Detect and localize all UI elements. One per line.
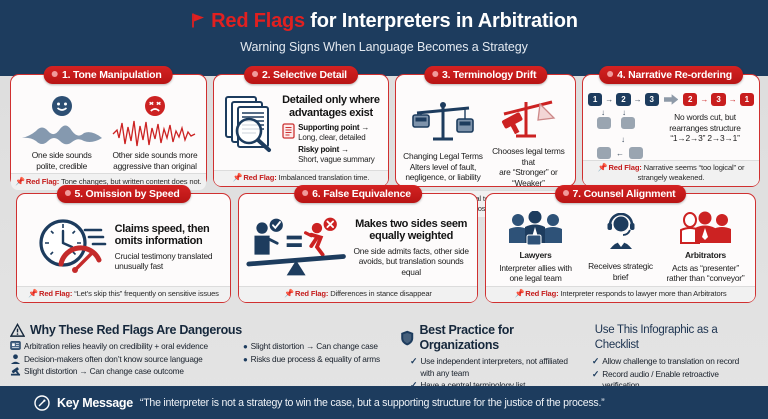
card-7-pill: 7. Counsel Alignment	[555, 185, 687, 203]
red-document-icon	[282, 123, 295, 139]
card-7-group-lawyers: Lawyers Interpreter allies withone legal…	[492, 211, 579, 284]
arrow-icon: →	[634, 95, 642, 104]
page-header: Red Flags for Interpreters in Arbitratio…	[0, 0, 768, 76]
gray-box	[621, 117, 635, 129]
card-2-body: Detailed only whereadvantages exist Supp…	[214, 89, 389, 170]
key-message-text: “The interpreter is not a strategy to wi…	[140, 397, 605, 409]
card-3-left-caption: Changing Legal TermsAlters level of faul…	[403, 151, 483, 183]
businessman-check-icon	[254, 219, 282, 255]
arrow-icon: →	[605, 95, 613, 104]
spiky-waveform-icon	[111, 120, 199, 148]
pill-dot-icon	[64, 190, 70, 196]
seq-navy-3: 3	[645, 93, 659, 106]
practice-panel-subtitle: Use This Infographic as a Checklist	[595, 323, 758, 353]
practice-item: ✓Allow challenge to translation on recor…	[592, 356, 758, 368]
card-7-group-arbitrators: Arbitrators Acts as “presenter”rather th…	[662, 211, 749, 284]
danger-item: Slight distortion → Can change case outc…	[10, 366, 235, 378]
left-arrow-icon: ←	[616, 149, 624, 158]
shield-icon	[400, 330, 414, 346]
gray-box	[629, 147, 643, 159]
card-1-pill: 1. Tone Manipulation	[44, 66, 173, 84]
key-message-label: Key Message	[57, 396, 133, 410]
card-omission-by-speed[interactable]: 5. Omission by Speed Claims spe	[16, 193, 231, 303]
pushpin-icon: 📌	[598, 163, 608, 172]
danger-panel-columns: Arbitration relies heavily on credibilit…	[10, 341, 380, 378]
seq-red-2: 3	[711, 93, 725, 106]
arrow-icon: →	[700, 95, 708, 104]
pushpin-icon: 📌	[15, 177, 25, 186]
angry-face-icon	[143, 94, 167, 118]
card-3-right: Chooses legal terms thatare “Stronger” o…	[488, 94, 569, 188]
practice-item: ✓Use independent interpreters, not affil…	[410, 356, 578, 379]
card-5-pill: 5. Omission by Speed	[56, 185, 190, 203]
interpreter-headset-icon	[601, 213, 641, 249]
page-title: Red Flags for Interpreters in Arbitratio…	[0, 9, 768, 35]
card-false-equivalence[interactable]: 6. False Equivalence	[238, 193, 478, 303]
card-5-heading: Claims speed, thenomits information	[115, 223, 213, 248]
pushpin-icon: 📌	[233, 173, 243, 182]
card-7-group-interpreter: Receives strategicbrief	[579, 211, 662, 282]
check-icon: ✓	[592, 356, 599, 368]
card-tone-manipulation[interactable]: 1. Tone Manipulation One side soundspoli…	[10, 74, 207, 187]
pill-dot-icon	[607, 71, 613, 77]
down-arrow-icon: ↓	[601, 108, 605, 117]
seq-navy-2: 2	[616, 93, 630, 106]
card-2-flagbar: 📌Red Flag: Imbalanced translation time.	[214, 170, 389, 187]
danger-panel: Why These Red Flags Are Dangerous Arbitr…	[0, 319, 390, 387]
gray-box	[597, 117, 611, 129]
pill-dot-icon	[432, 71, 438, 77]
bottom-panels: Why These Red Flags Are Dangerous Arbitr…	[0, 319, 768, 387]
card-7-interpreter-desc: Receives strategicbrief	[588, 261, 653, 282]
card-6-sub: One side admits facts, other sideavoids,…	[351, 246, 471, 278]
red-flag-icon	[190, 11, 207, 35]
gavel-small-icon	[10, 366, 21, 376]
card-7-flagbar: 📌Red Flag: Interpreter responds to lawye…	[486, 286, 755, 303]
card-4-text: No words cut, but rearranges structure “…	[656, 108, 754, 159]
pushpin-icon: 📌	[28, 289, 38, 298]
title-rest: for Interpreters in Arbitration	[305, 10, 578, 32]
key-circle-icon	[34, 395, 50, 411]
down-arrow-icon: ↓	[622, 108, 626, 117]
card-row-2: 5. Omission by Speed Claims spe	[16, 193, 756, 303]
smiley-face-icon	[50, 94, 74, 118]
lawyers-group-icon	[505, 211, 567, 247]
card-1-left: One side soundspolite, credible	[17, 94, 106, 171]
card-7-arbitrators-desc: Acts as “presenter”rather than “conveyor…	[666, 263, 744, 284]
check-icon: ✓	[410, 356, 417, 379]
practice-panel-title: Best Practice for Organizations Use This…	[400, 323, 758, 353]
seesaw-icon	[245, 215, 347, 279]
card-7-arbitrators-title: Arbitrators	[685, 250, 726, 261]
card-7-body: Lawyers Interpreter allies withone legal…	[486, 208, 755, 286]
pushpin-icon: 📌	[284, 289, 294, 298]
id-card-icon	[10, 341, 21, 350]
pushpin-icon: 📌	[514, 289, 524, 298]
card-5-body: Claims speed, thenomits information Cruc…	[17, 208, 230, 286]
card-counsel-alignment[interactable]: 7. Counsel Alignment Lawyers Interpreter…	[485, 193, 756, 303]
card-1-body: One side soundspolite, credible Other si…	[11, 89, 206, 173]
card-4-body: 1 → 2 → 3 2 → 3 → 1 ↓ ↓	[583, 89, 759, 160]
pill-dot-icon	[252, 71, 258, 77]
gavel-scales-icon	[494, 94, 562, 144]
card-2-pill: 2. Selective Detail	[244, 66, 358, 84]
danger-item: ●Risks due process & equality of arms	[243, 354, 380, 366]
title-red: Red Flags	[211, 10, 305, 32]
card-terminology-drift[interactable]: 3. Terminology Drift Changing Legal	[395, 74, 576, 187]
down-arrow-icon: ↓	[621, 135, 625, 144]
card-3-left: Changing Legal TermsAlters level of faul…	[402, 99, 483, 183]
card-6-heading: Makes two sides seemequally weighted	[351, 218, 471, 243]
danger-item: Decision-makers often don’t know source …	[10, 354, 235, 366]
card-4-pill: 4. Narrative Re-ordering	[599, 66, 743, 84]
person-icon	[10, 354, 21, 364]
danger-item: ●Slight distortion → Can change case	[243, 341, 380, 353]
card-2-point2-label: Risky point →	[298, 145, 374, 155]
seq-navy-1: 1	[588, 93, 602, 106]
card-3-pill: 3. Terminology Drift	[424, 66, 547, 84]
equals-sign-icon	[287, 236, 302, 247]
card-2-point1-label: Supporting point →	[298, 123, 374, 133]
card-3-body: Changing Legal TermsAlters level of faul…	[396, 89, 575, 190]
page-subtitle: Warning Signs When Language Becomes a St…	[0, 40, 768, 54]
card-7-lawyers-title: Lawyers	[519, 250, 551, 261]
danger-panel-title: Why These Red Flags Are Dangerous	[10, 323, 380, 338]
seq-red-1: 2	[683, 93, 697, 106]
card-7-lawyers-desc: Interpreter allies withone legal team	[499, 263, 572, 284]
infographic-board: 1. Tone Manipulation One side soundspoli…	[0, 76, 768, 419]
card-row-1: 1. Tone Manipulation One side soundspoli…	[10, 74, 760, 187]
fast-clock-speedometer-icon	[35, 216, 109, 278]
pill-dot-icon	[52, 71, 58, 77]
danger-item: Arbitration relies heavily on credibilit…	[10, 341, 235, 353]
calm-waveform-icon	[20, 120, 104, 148]
card-2-heading: Detailed only whereadvantages exist	[282, 94, 380, 119]
bullet-dot-icon: ●	[243, 354, 248, 366]
card-6-flagbar: 📌Red Flag: Differences in stance disappe…	[239, 286, 477, 303]
card-2-point2-text: Short, vague summary	[298, 155, 374, 165]
warning-triangle-icon	[10, 323, 25, 338]
card-6-body: Makes two sides seemequally weighted One…	[239, 208, 477, 286]
key-message-bar: Key Message “The interpreter is not a st…	[0, 386, 768, 419]
arrow-icon: →	[729, 95, 737, 104]
pill-dot-icon	[302, 190, 308, 196]
card-1-left-caption: One side soundspolite, credible	[32, 150, 92, 171]
card-selective-detail[interactable]: 2. Selective Detail Detailed only wherea…	[213, 74, 390, 187]
running-person-x-icon	[306, 218, 337, 255]
card-1-right-caption: Other side sounds moreaggressive than or…	[112, 150, 197, 171]
bullet-dot-icon: ●	[243, 341, 248, 353]
card-4-flagbar: 📌Red Flag: Narrative seems “too logical”…	[583, 160, 759, 187]
arbitrators-group-icon	[674, 211, 736, 247]
card-6-pill: 6. False Equivalence	[294, 185, 422, 203]
practice-panel: Best Practice for Organizations Use This…	[390, 319, 768, 387]
balanced-scales-icon	[409, 99, 477, 149]
seq-red-3: 1	[740, 93, 754, 106]
documents-magnifier-icon	[222, 93, 278, 155]
thick-right-arrow-icon	[664, 94, 678, 105]
card-3-right-caption: Chooses legal terms thatare “Stronger” o…	[488, 146, 569, 188]
card-2-point1-text: Long, clear, detailed	[298, 133, 374, 143]
card-5-sub: Crucial testimony translatedunusually fa…	[115, 251, 213, 272]
card-narrative-reordering[interactable]: 4. Narrative Re-ordering 1 → 2 → 3 2 → 3…	[582, 74, 760, 187]
pill-dot-icon	[563, 190, 569, 196]
card-1-right: Other side sounds moreaggressive than or…	[110, 94, 199, 171]
gray-box	[597, 147, 611, 159]
card-5-flagbar: 📌Red Flag: “Let’s skip this” frequently …	[17, 286, 230, 303]
